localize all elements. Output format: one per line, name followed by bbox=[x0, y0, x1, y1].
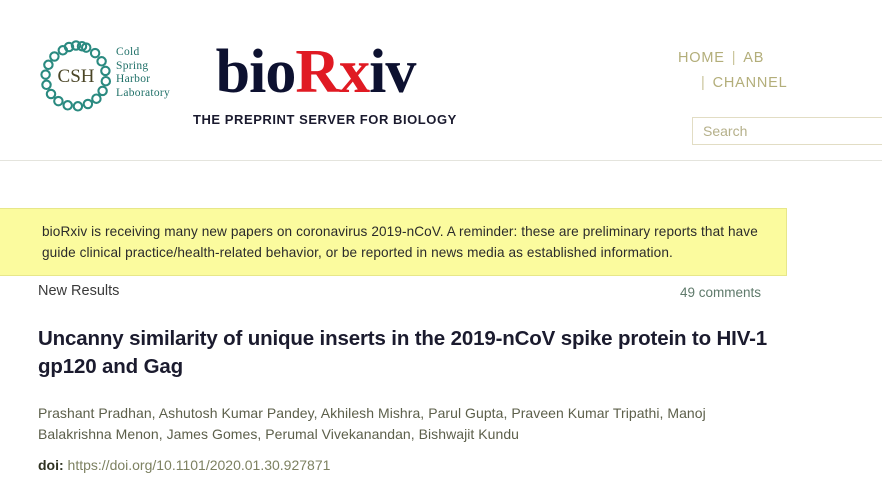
nav-row-secondary: |CHANNEL bbox=[678, 71, 882, 96]
publisher-branding[interactable]: CSH Cold Spring Harbor Laboratory bbox=[40, 40, 170, 112]
biorxiv-logo[interactable]: bioRxiv THE PREPRINT SERVER FOR BIOLOGY bbox=[193, 38, 438, 127]
cold-spring-harbor-logo-icon: CSH bbox=[40, 40, 112, 112]
main-navigation: HOME|AB |CHANNEL bbox=[678, 46, 882, 96]
site-header: CSH Cold Spring Harbor Laboratory bioRxi… bbox=[0, 0, 882, 161]
nav-separator-1: | bbox=[725, 50, 744, 66]
article-category-label: New Results bbox=[38, 283, 119, 299]
nav-row-primary: HOME|AB bbox=[678, 46, 882, 71]
search-input[interactable] bbox=[693, 118, 882, 144]
publisher-name: Cold Spring Harbor Laboratory bbox=[116, 46, 170, 100]
biorxiv-wordmark-iv: iv bbox=[369, 38, 415, 106]
publisher-name-line-4: Laboratory bbox=[116, 87, 170, 101]
biorxiv-tagline: THE PREPRINT SERVER FOR BIOLOGY bbox=[193, 112, 438, 127]
nav-separator-2: | bbox=[694, 75, 713, 91]
article-doi: doi: https://doi.org/10.1101/2020.01.30.… bbox=[0, 457, 882, 473]
publisher-name-line-1: Cold bbox=[116, 46, 170, 60]
doi-label: doi: bbox=[38, 457, 64, 473]
comment-count-link[interactable]: 49 comments bbox=[680, 285, 761, 300]
biorxiv-wordmark-bio: bio bbox=[216, 38, 296, 106]
coronavirus-notice-banner: bioRxiv is receiving many new papers on … bbox=[0, 208, 787, 276]
doi-link[interactable]: https://doi.org/10.1101/2020.01.30.92787… bbox=[68, 457, 331, 473]
article-entry: New Results 49 comments Uncanny similari… bbox=[0, 283, 882, 473]
notice-line-2: guide clinical practice/health-related b… bbox=[42, 242, 772, 263]
article-title[interactable]: Uncanny similarity of unique inserts in … bbox=[0, 325, 882, 381]
publisher-name-line-3: Harbor bbox=[116, 73, 170, 87]
article-authors: Prashant Pradhan, Ashutosh Kumar Pandey,… bbox=[0, 403, 882, 445]
notice-line-1: bioRxiv is receiving many new papers on … bbox=[42, 221, 772, 242]
biorxiv-wordmark: bioRxiv bbox=[193, 38, 438, 106]
biorxiv-wordmark-rx: Rx bbox=[295, 38, 369, 106]
nav-item-home[interactable]: HOME bbox=[678, 50, 725, 66]
article-meta-row: New Results 49 comments bbox=[0, 283, 882, 307]
publisher-name-line-2: Spring bbox=[116, 60, 170, 74]
nav-item-about[interactable]: AB bbox=[743, 50, 764, 66]
search-box[interactable] bbox=[692, 117, 882, 145]
nav-item-channels[interactable]: CHANNEL bbox=[713, 75, 788, 91]
svg-text:CSH: CSH bbox=[58, 66, 95, 87]
